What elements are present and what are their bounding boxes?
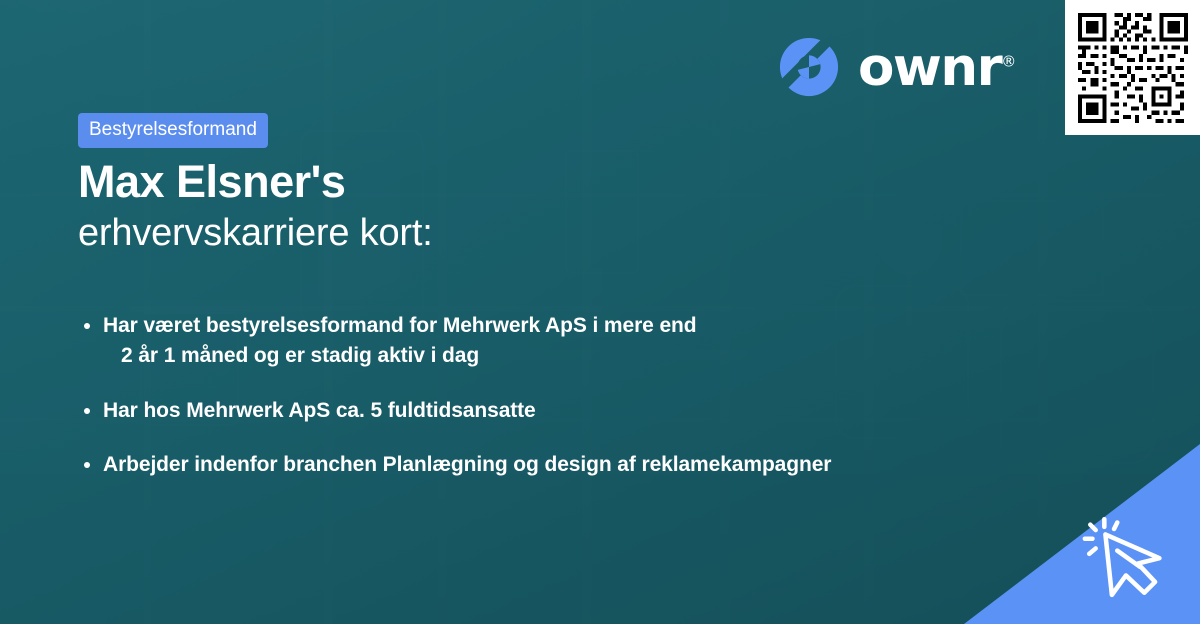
list-item-line2: 2 år 1 måned og er stadig aktiv i dag [103, 341, 1062, 371]
bullet-dot-icon [84, 323, 90, 329]
ownr-circle-swirl-icon [778, 36, 840, 98]
ownr-wordmark: ownr® [858, 41, 1016, 94]
bullet-dot-icon [84, 462, 90, 468]
list-item-line1: Arbejder indenfor branchen Planlægning o… [103, 453, 831, 476]
ownr-logo[interactable]: ownr® [778, 36, 1016, 98]
registered-trademark-icon: ® [1001, 52, 1016, 70]
list-item: Har været bestyrelsesformand for Mehrwer… [82, 311, 1062, 372]
list-item: Har hos Mehrwerk ApS ca. 5 fuldtidsansat… [82, 396, 1062, 426]
qr-code-panel[interactable] [1065, 0, 1200, 135]
list-item-line1: Har hos Mehrwerk ApS ca. 5 fuldtidsansat… [103, 399, 536, 422]
profile-share-card: ownr® [0, 0, 1200, 624]
page-subtitle: erhvervskarriere kort: [78, 212, 433, 255]
qr-code-icon [1074, 9, 1192, 127]
bullet-dot-icon [84, 408, 90, 414]
brand-name: ownr [858, 37, 1001, 98]
mouse-cursor-click-icon [1072, 502, 1182, 610]
list-item: Arbejder indenfor branchen Planlægning o… [82, 450, 1062, 480]
role-badge: Bestyrelsesformand [78, 113, 268, 148]
list-item-line1: Har været bestyrelsesformand for Mehrwer… [103, 314, 697, 337]
page-title: Max Elsner's [78, 158, 345, 207]
career-highlights-list: Har været bestyrelsesformand for Mehrwer… [82, 311, 1062, 481]
